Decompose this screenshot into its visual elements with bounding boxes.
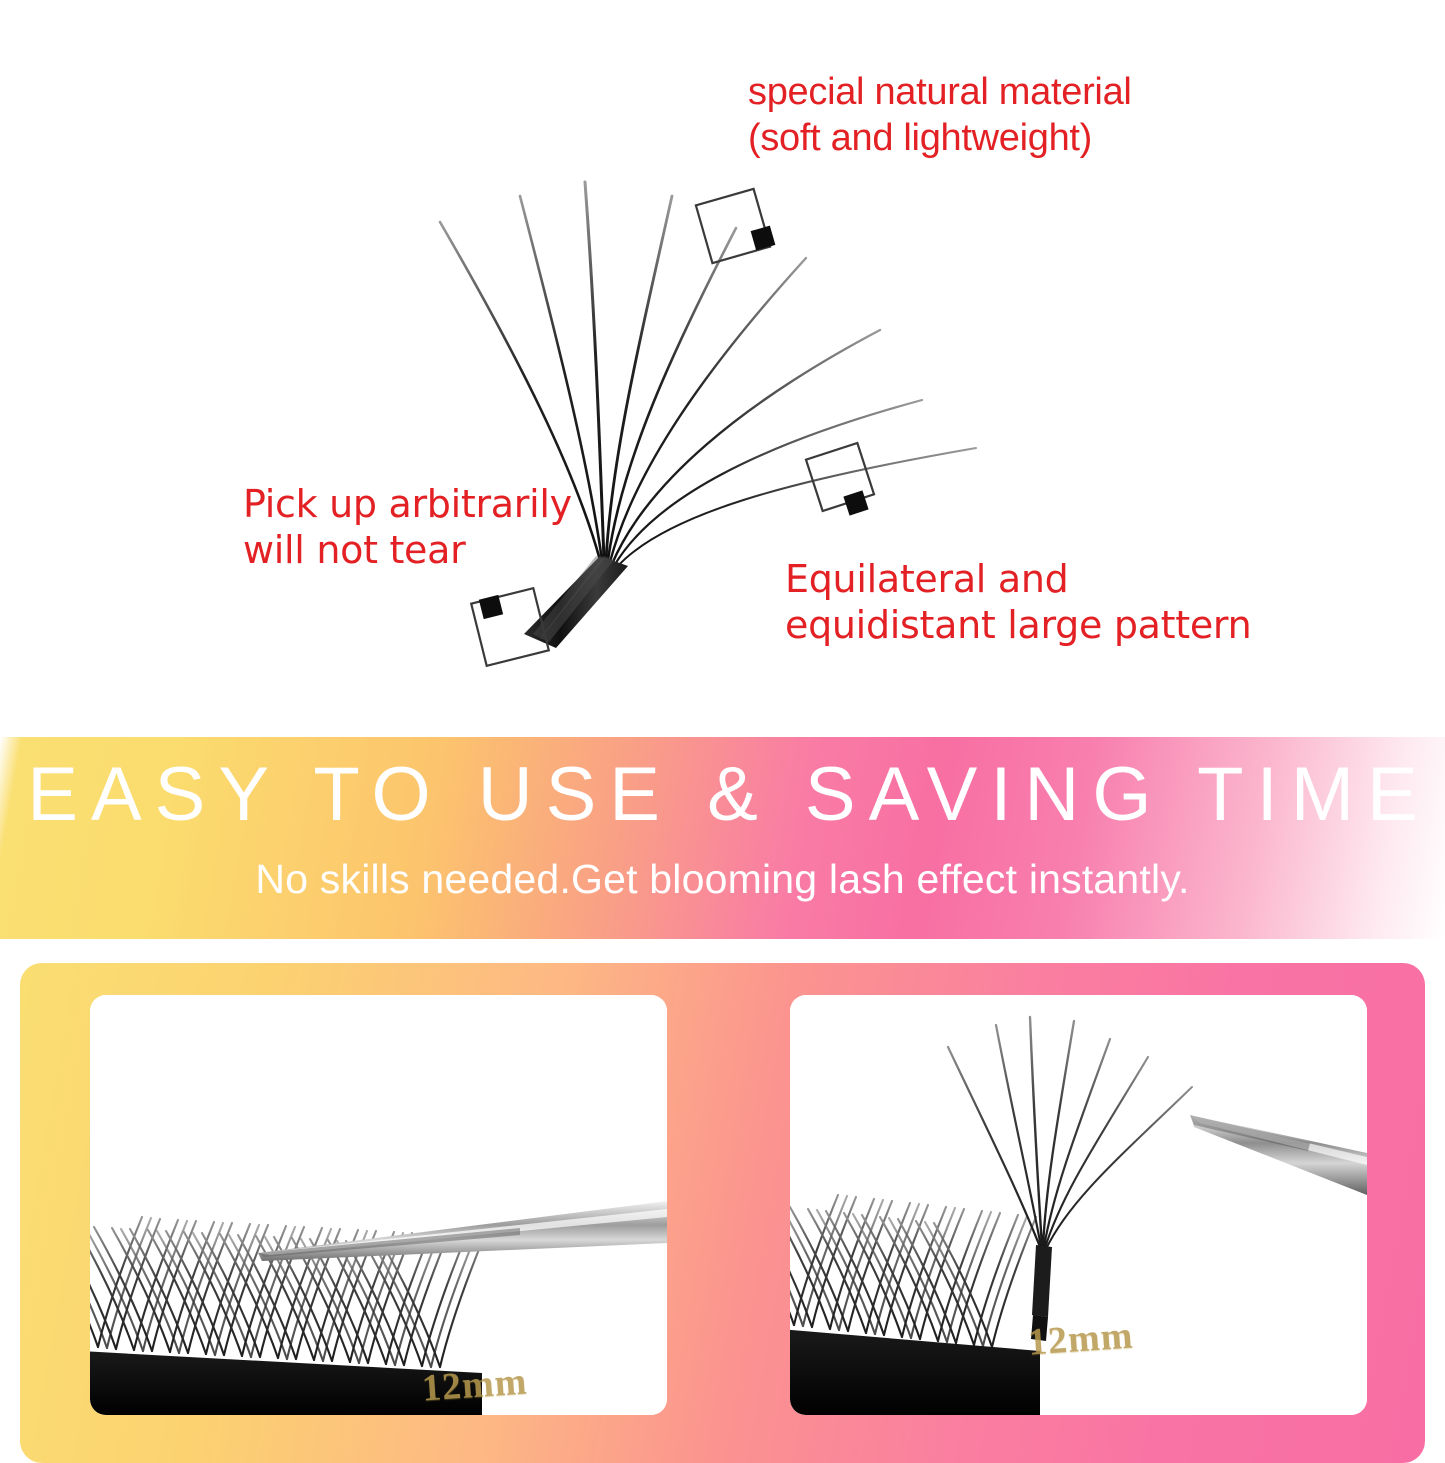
annotation-pick-up-arbitrarily: Pick up arbitrarily will not tear: [243, 482, 572, 573]
annotation-equilateral-equidistant: Equilateral and equidistant large patter…: [785, 557, 1251, 648]
banner-headline: EASY TO USE & SAVING TIME: [0, 757, 1445, 833]
photo-card-fan-pickup: 12mm: [790, 995, 1367, 1415]
banner-subheadline: No skills needed.Get blooming lash effec…: [0, 859, 1445, 900]
size-label-12mm-right: 12mm: [1027, 1313, 1135, 1364]
size-label-12mm-left: 12mm: [421, 1359, 529, 1410]
top-illustration-section: special natural material (soft and light…: [0, 0, 1445, 737]
product-photo-panel: 12mm: [20, 963, 1425, 1463]
promo-banner: EASY TO USE & SAVING TIME No skills need…: [0, 737, 1445, 939]
lash-tray-photo: [90, 995, 667, 1415]
annotation-special-natural-material: special natural material (soft and light…: [748, 70, 1132, 161]
photo-card-lash-tray: 12mm: [90, 995, 667, 1415]
callout-marker-top: [696, 189, 775, 263]
